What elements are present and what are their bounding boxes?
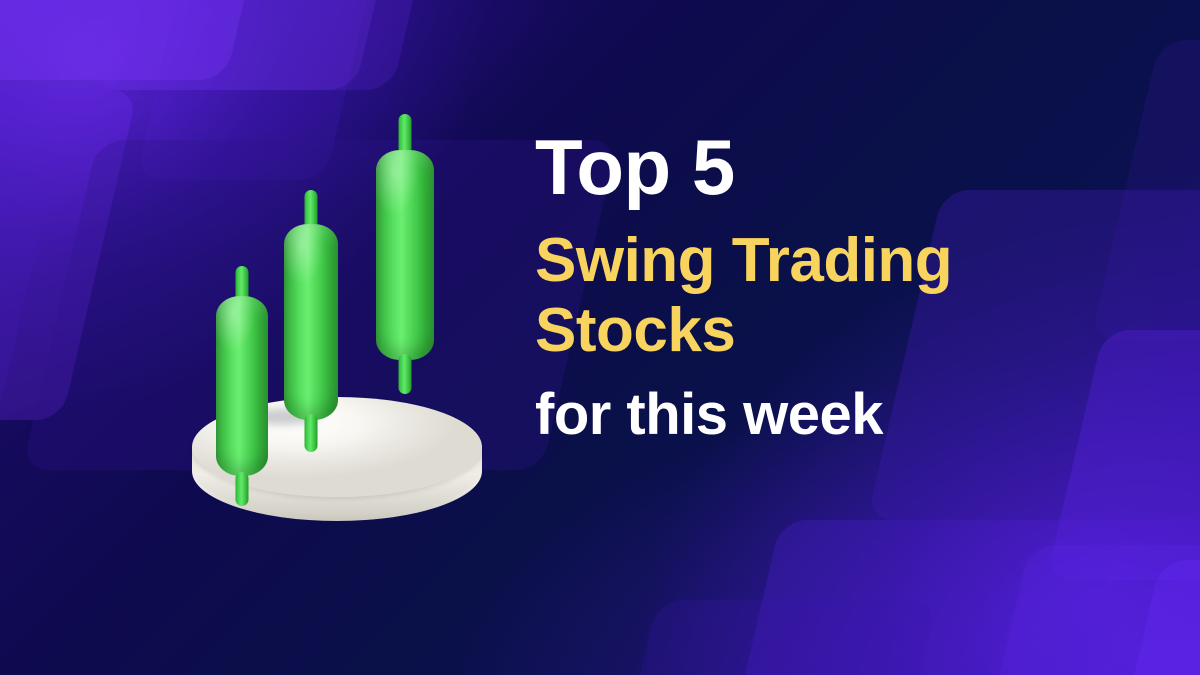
candle-lower-wick — [305, 414, 318, 452]
background-panel-2 — [0, 90, 138, 420]
candlestick-icon-3 — [372, 114, 438, 394]
promo-banner: Top 5 Swing Trading Stocks for this week — [0, 0, 1200, 675]
candle-body — [284, 224, 338, 420]
headline-line-4: for this week — [535, 382, 1175, 448]
background-panel-14 — [1119, 560, 1200, 675]
background-panel-7 — [0, 170, 55, 470]
headline-line-2: Swing Trading — [535, 226, 1175, 296]
candle-body — [216, 296, 268, 476]
headline-line-3: Stocks — [535, 296, 1175, 366]
candlestick-illustration — [186, 104, 486, 534]
headline-block: Top 5 Swing Trading Stocks for this week — [535, 128, 1175, 448]
background-panel-1 — [0, 0, 274, 80]
headline-line-1: Top 5 — [535, 128, 1175, 206]
background-panel-11 — [739, 520, 1121, 675]
candle-lower-wick — [399, 354, 412, 394]
candlestick-icon-1 — [212, 266, 272, 506]
background-panel-4 — [0, 0, 385, 90]
background-panel-3 — [92, 0, 447, 90]
candle-body — [376, 150, 434, 360]
background-panel-13 — [623, 600, 938, 675]
candlestick-icon-2 — [280, 190, 342, 452]
background-panel-12 — [990, 545, 1200, 675]
candle-lower-wick — [236, 472, 249, 506]
